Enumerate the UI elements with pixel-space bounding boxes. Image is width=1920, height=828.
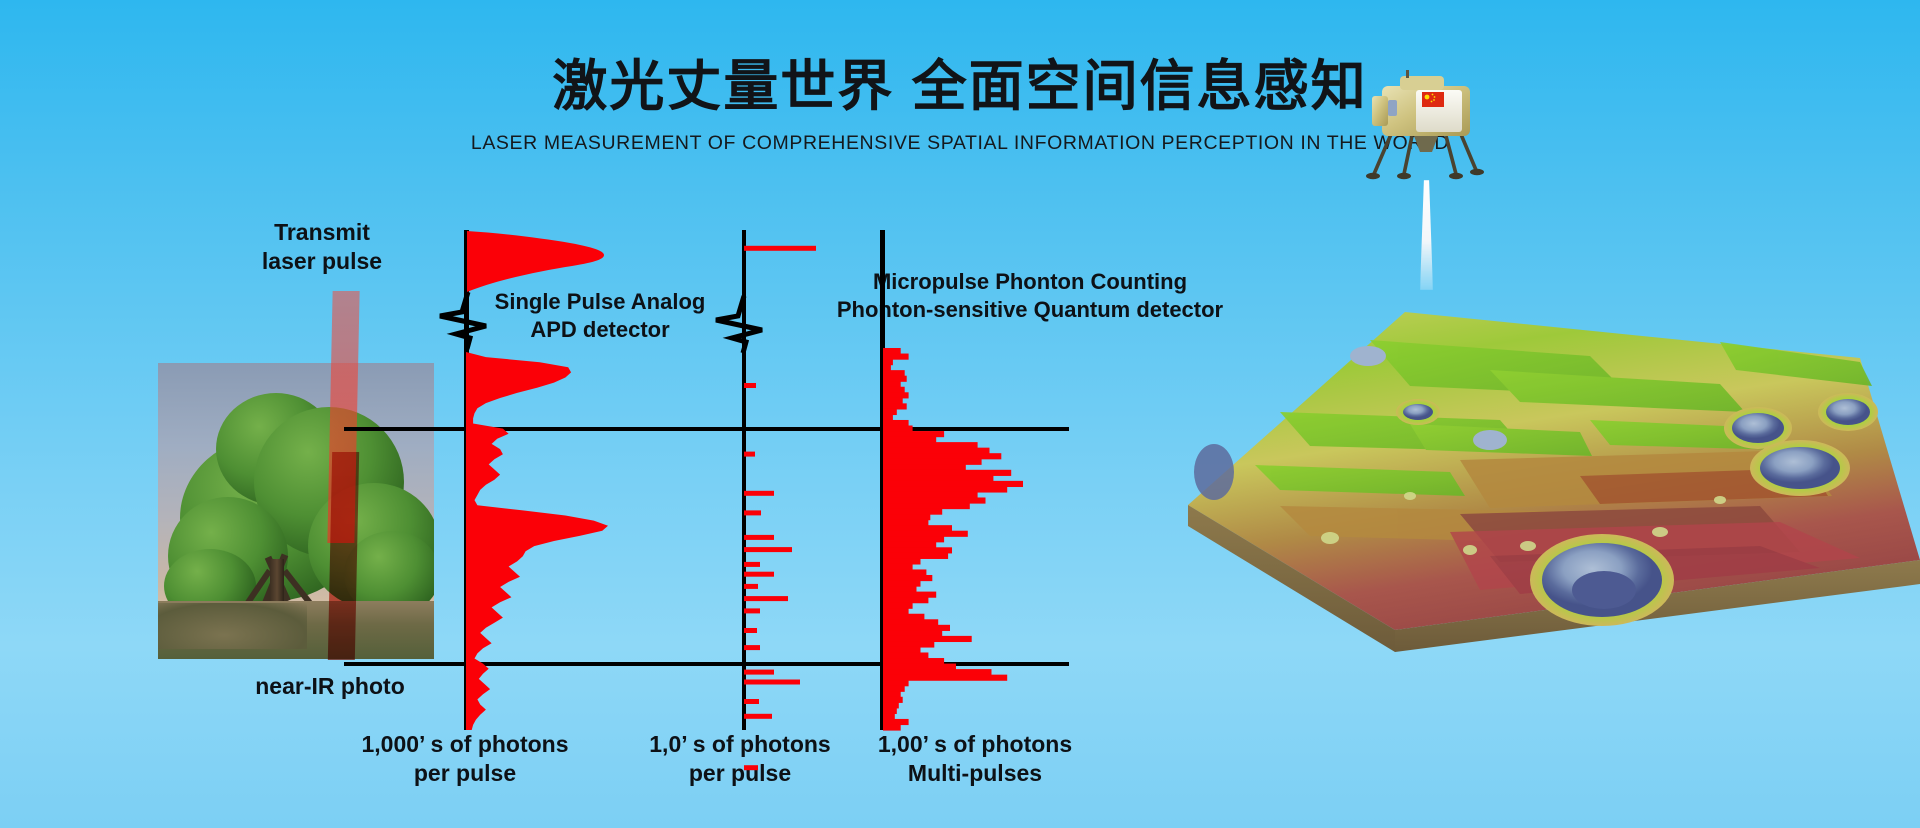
photon-count-bar <box>883 680 909 686</box>
low-count-bar <box>744 714 772 719</box>
photon-count-bar <box>883 575 932 581</box>
lander-antenna-mast <box>1406 70 1409 78</box>
lander-side-panel <box>1372 96 1388 126</box>
photon-count-bar <box>883 503 970 509</box>
photon-count-bar <box>883 486 1007 492</box>
photon-count-bar <box>883 647 921 653</box>
analog-waveform <box>466 352 608 730</box>
photon-count-bar <box>883 376 907 382</box>
low-count-bar-group <box>744 246 816 770</box>
photon-count-bar <box>883 442 978 448</box>
photon-count-bar <box>883 354 909 360</box>
photon-count-bar <box>883 520 928 526</box>
photon-count-bar <box>883 514 930 520</box>
low-count-bar <box>744 572 774 577</box>
photon-count-bar <box>883 403 907 409</box>
photon-count-bar <box>883 525 952 531</box>
photon-count-bar <box>883 686 905 692</box>
low-count-bar <box>744 491 774 496</box>
lunar-lander <box>1360 70 1490 190</box>
photon-count-bar <box>883 359 893 365</box>
photon-count-bar <box>883 426 913 432</box>
lander-footpads <box>1366 169 1484 179</box>
photon-count-bar <box>883 470 1011 476</box>
photon-count-bar <box>883 348 901 354</box>
photon-count-bar <box>883 509 942 515</box>
photon-count-bar <box>883 392 909 398</box>
lander-top-module <box>1400 76 1444 90</box>
photon-count-bar <box>883 603 913 609</box>
photon-count-bar <box>883 691 901 697</box>
photon-count-bar <box>883 448 990 454</box>
photon-count-bar <box>883 669 992 675</box>
lander-engine-nozzle <box>1414 136 1438 152</box>
photon-count-bar <box>883 658 944 664</box>
photon-count-bar <box>883 619 938 625</box>
low-count-bar <box>744 562 760 567</box>
photon-count-bar <box>883 581 921 587</box>
photon-count-bar <box>883 713 895 719</box>
photon-count-bar <box>883 652 928 658</box>
photon-count-bar <box>883 708 897 714</box>
lunar-lidar-scene <box>1150 0 1920 828</box>
photon-count-bar <box>883 553 948 559</box>
photon-count-bar <box>883 586 917 592</box>
photon-count-bar <box>883 536 944 542</box>
photon-count-bar <box>883 664 956 670</box>
photon-count-bar <box>883 614 924 620</box>
photon-count-bar <box>883 497 986 503</box>
photon-count-bar <box>883 636 972 642</box>
low-count-bar <box>744 535 774 540</box>
low-count-bar <box>744 628 757 633</box>
lidar-waveform-diagram: Transmit laser pulse Single Pulse Analog… <box>0 0 1150 828</box>
low-count-bar <box>744 452 755 457</box>
low-count-bar <box>744 608 760 613</box>
lander-sensor-box <box>1388 100 1397 116</box>
photon-count-bar <box>883 608 909 614</box>
photon-count-bar <box>883 564 913 570</box>
photon-count-bar <box>883 481 1023 487</box>
photon-count-bar <box>883 592 936 598</box>
low-count-bar <box>744 765 758 770</box>
low-count-bar <box>744 547 792 552</box>
low-count-bar <box>744 670 774 675</box>
photon-count-bar <box>883 569 926 575</box>
photon-count-bar <box>883 409 897 415</box>
photon-count-bar <box>883 464 966 470</box>
low-count-bar <box>744 246 816 251</box>
low-count-bar <box>744 680 800 685</box>
axis-break-icon <box>440 292 486 349</box>
photon-count-bar <box>883 431 944 437</box>
photon-count-bar <box>883 437 936 443</box>
low-count-bar <box>744 645 760 650</box>
photon-count-bar <box>883 625 950 631</box>
photon-count-bar <box>883 492 978 498</box>
photon-count-bar <box>883 558 921 564</box>
photon-count-bar <box>883 641 934 647</box>
photon-count-bar <box>883 475 993 481</box>
photon-count-bar <box>883 542 936 548</box>
photon-count-bar <box>883 459 982 465</box>
axis-break-icon <box>716 296 762 353</box>
photon-count-bar <box>883 597 928 603</box>
lander-laser-beam <box>1420 180 1433 290</box>
photon-count-bar <box>883 675 1007 681</box>
photon-count-bar <box>883 381 901 387</box>
photon-count-bar <box>883 453 1001 459</box>
photon-count-bar <box>883 531 968 537</box>
photon-count-bar <box>883 724 901 730</box>
low-count-bar <box>744 596 788 601</box>
low-count-bar <box>744 699 759 704</box>
photon-count-bar <box>883 719 909 725</box>
photon-count-bar <box>883 420 909 426</box>
3d-terrain-model <box>1160 300 1920 700</box>
photon-count-bar <box>883 414 893 420</box>
photon-count-bar <box>883 697 903 703</box>
low-count-bar <box>744 584 758 589</box>
photon-count-bar <box>883 630 942 636</box>
low-count-bar <box>744 383 756 388</box>
photon-counting-bar-group <box>883 348 1023 731</box>
photon-count-bar <box>883 547 952 553</box>
photon-count-bar <box>883 398 903 404</box>
waveform-svg-layer <box>0 0 1150 828</box>
photon-count-bar <box>883 702 899 708</box>
photon-count-bar <box>883 365 891 371</box>
transmit-pulse-waveform <box>467 231 604 292</box>
photon-count-bar <box>883 370 905 376</box>
photon-count-bar <box>883 387 905 393</box>
low-count-bar <box>744 510 761 515</box>
